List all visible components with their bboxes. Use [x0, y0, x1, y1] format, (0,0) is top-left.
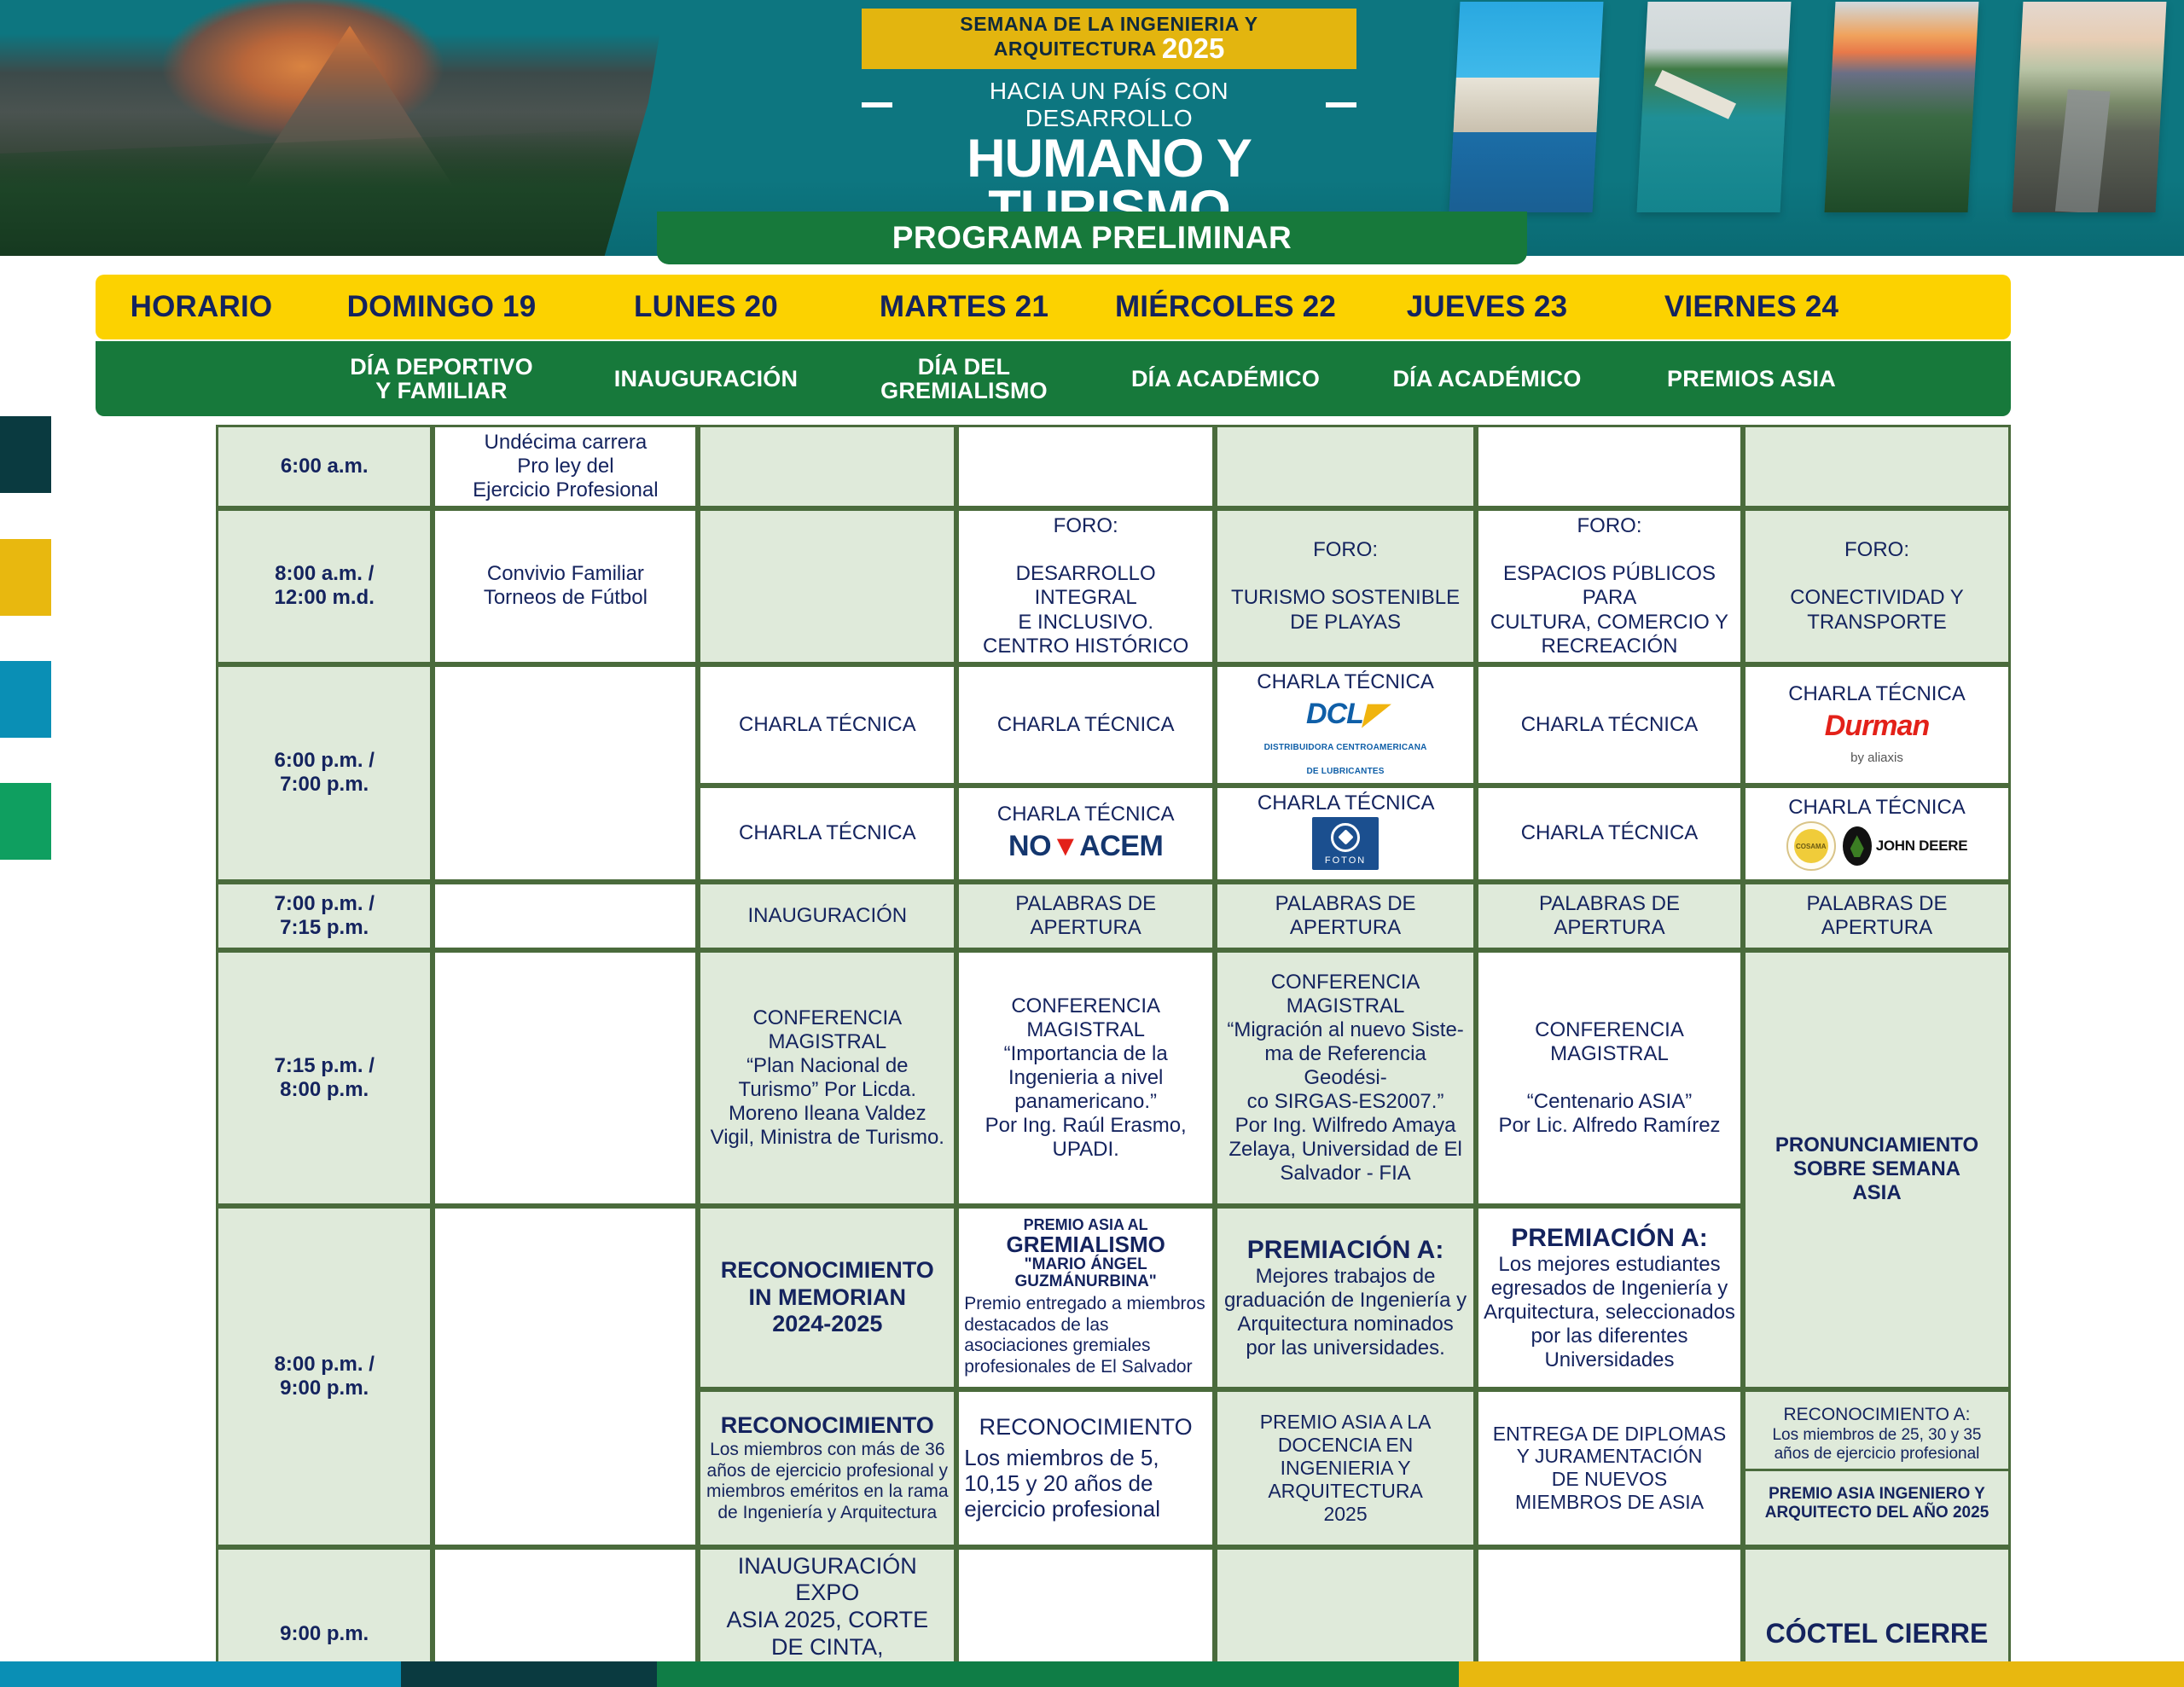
charla-label: CHARLA TÉCNICA	[739, 713, 916, 736]
cell-line: INGENIERIA Y	[1281, 1457, 1411, 1479]
cell-line: IN MEMORIAN	[749, 1284, 907, 1310]
durman-logo-subtitle: by aliaxis	[1850, 751, 1903, 765]
reconocimiento-title: RECONOCIMIENTO	[964, 1414, 1207, 1441]
cell-jue-600	[1476, 425, 1743, 508]
header-domingo: DOMINGO 19	[307, 292, 576, 323]
cell-line: Ingenieria a nivel	[1008, 1066, 1163, 1089]
conferencia-title: CONFERENCIA	[1535, 1018, 1684, 1041]
cell-line: Pro ley del	[517, 455, 613, 478]
day-header-row: HORARIO DOMINGO 19 LUNES 20 MARTES 21 MI…	[96, 275, 2011, 339]
bottom-segment-gold	[1459, 1661, 2184, 1687]
charla-label: CHARLA TÉCNICA	[1788, 682, 1966, 705]
time-line: 6:00 p.m. /	[275, 749, 375, 772]
premiacion-body: Los mejores estudiantes egresados de Ing…	[1484, 1253, 1735, 1372]
cell-lun-reconocimiento: RECONOCIMIENTO IN MEMORIAN 2024-2025	[698, 1206, 956, 1389]
foro-label: FORO:	[1844, 538, 1909, 561]
cell-line: ma de Referencia Geodési-	[1264, 1042, 1426, 1089]
cell-lun-conferencia: CONFERENCIA MAGISTRAL “Plan Nacional de …	[698, 950, 956, 1206]
cell-lun-800	[698, 508, 956, 664]
time-600pm: 6:00 p.m. / 7:00 p.m.	[216, 664, 433, 882]
cell-line: Torneos de Fútbol	[484, 586, 648, 609]
premiacion-label: PREMIACIÓN A:	[1484, 1223, 1735, 1253]
cell-lun-reconocimiento-2: RECONOCIMIENTO Los miembros con más de 3…	[698, 1389, 956, 1547]
foro-label: FORO:	[1313, 538, 1378, 561]
conferencia-title: CONFERENCIA MAGISTRAL	[706, 1006, 949, 1054]
theme-domingo: DÍA DEPORTIVOY FAMILIAR	[307, 355, 576, 403]
cell-mar-premio-gremialismo: PREMIO ASIA AL GREMIALISMO "MARIO ÁNGEL …	[956, 1206, 1215, 1389]
cell-lun-charla-2: CHARLA TÉCNICA	[698, 786, 956, 882]
bottom-segment-green	[657, 1661, 1459, 1687]
cell-line: APERTURA	[1290, 916, 1401, 939]
theme-lunes: INAUGURACIÓN	[576, 367, 836, 391]
cell-line: “Importancia de la	[1004, 1042, 1168, 1065]
cell-mie-premio-docencia: PREMIO ASIA A LA DOCENCIA EN INGENIERIA …	[1215, 1389, 1476, 1547]
cell-line: DOCENCIA EN	[1278, 1434, 1413, 1456]
time-line: 8:00 p.m. /	[275, 1353, 375, 1376]
cell-dom-715pm	[433, 950, 698, 1206]
cell-line: SOBRE SEMANA	[1793, 1157, 1960, 1180]
event-kicker-bar: SEMANA DE LA INGENIERIA Y ARQUITECTURA20…	[862, 9, 1356, 69]
photo-pier	[1637, 2, 1792, 212]
cell-line: E INCLUSIVO.	[1018, 611, 1153, 634]
conferencia-title: MAGISTRAL	[1550, 1042, 1669, 1065]
dcl-logo-subtitle: DISTRIBUIDORA CENTROAMERICANA DE LUBRICA…	[1264, 743, 1427, 776]
cell-mar-charla-1: CHARLA TÉCNICA	[956, 664, 1215, 786]
time-700pm: 7:00 p.m. / 7:15 p.m.	[216, 882, 433, 950]
time-line: 7:00 p.m. /	[275, 892, 375, 915]
foton-emblem-icon	[1331, 823, 1360, 852]
charla-label: CHARLA TÉCNICA	[1258, 791, 1433, 815]
premiacion-label: PREMIACIÓN A:	[1223, 1235, 1468, 1265]
cell-line: Por Ing. Raúl Erasmo,	[985, 1114, 1187, 1137]
cell-line: PALABRAS DE	[1539, 892, 1680, 915]
cell-line: ARQUITECTURA	[1268, 1480, 1422, 1502]
cell-line: INAUGURACIÓN EXPO	[738, 1553, 917, 1606]
reconocimiento-title: RECONOCIMIENTO A:	[1749, 1405, 2005, 1426]
cell-line: panamericano.”	[1014, 1090, 1157, 1113]
cell-line: Zelaya, Universidad de El	[1228, 1138, 1461, 1161]
color-chip-dark-teal	[0, 416, 51, 493]
bottom-segment-cyan	[0, 1661, 401, 1687]
vie-premio-block: PREMIO ASIA INGENIERO Y ARQUITECTO DEL A…	[1745, 1471, 2008, 1536]
cell-line: Convivio Familiar	[487, 562, 644, 585]
cell-lun-charla-1: CHARLA TÉCNICA	[698, 664, 956, 786]
theme-viernes: PREMIOS ASIA	[1615, 367, 1888, 391]
cell-jue-entrega-diplomas: ENTREGA DE DIPLOMAS Y JURAMENTACIÓN DE N…	[1476, 1389, 1743, 1547]
event-year: 2025	[1162, 32, 1224, 64]
table-row: 8:00 a.m. / 12:00 m.d. Convivio Familiar…	[216, 508, 2011, 664]
cell-line: RECONOCIMIENTO	[721, 1257, 934, 1283]
cell-line: TRANSPORTE	[1807, 611, 1947, 634]
cell-dom-600: Undécima carrera Pro ley del Ejercicio P…	[433, 425, 698, 508]
cell-mie-800: FORO: TURISMO SOSTENIBLE DE PLAYAS	[1215, 508, 1476, 664]
theme-miercoles: DÍA ACADÉMICO	[1092, 367, 1359, 391]
cell-jue-charla-1: CHARLA TÉCNICA	[1476, 664, 1743, 786]
cell-jue-apertura: PALABRAS DE APERTURA	[1476, 882, 1743, 950]
conferencia-title: MAGISTRAL	[1026, 1018, 1145, 1041]
cell-mie-conferencia: CONFERENCIA MAGISTRAL “Migración al nuev…	[1215, 950, 1476, 1206]
table-row: 8:00 p.m. / 9:00 p.m. RECONOCIMIENTO IN …	[216, 1206, 2011, 1389]
bottom-segment-dark-teal	[401, 1661, 657, 1687]
rule-left-icon	[862, 102, 892, 107]
vie-reconocimiento-block: RECONOCIMIENTO A: Los miembros de 25, 30…	[1745, 1400, 2008, 1471]
cell-lun-inauguracion: INAUGURACIÓN	[698, 882, 956, 950]
cell-mie-premiacion: PREMIACIÓN A: Mejores trabajos de gradua…	[1215, 1206, 1476, 1389]
time-600am: 6:00 a.m.	[216, 425, 433, 508]
time-800am: 8:00 a.m. / 12:00 m.d.	[216, 508, 433, 664]
theme-jueves: DÍA ACADÉMICO	[1359, 367, 1615, 391]
cell-vie-charla-1: CHARLA TÉCNICA Durman by aliaxis	[1743, 664, 2011, 786]
theme-martes: DÍA DELGREMIALISMO	[836, 355, 1092, 403]
cell-line: CENTRO HISTÓRICO	[983, 635, 1188, 658]
color-chip-cyan	[0, 661, 51, 738]
charla-label: CHARLA TÉCNICA	[1521, 713, 1699, 736]
conferencia-body: “Plan Nacional de Turismo” Por Licda. Mo…	[706, 1054, 949, 1150]
durman-logo-icon: Durman	[1751, 710, 2003, 744]
header-horario: HORARIO	[96, 292, 307, 323]
header-martes: MARTES 21	[836, 292, 1092, 323]
conferencia-title: MAGISTRAL	[1287, 994, 1405, 1017]
cell-line: PALABRAS DE	[1807, 892, 1948, 915]
cell-vie-pronunciamiento: PRONUNCIAMIENTO SOBRE SEMANA ASIA	[1743, 950, 2011, 1389]
cell-mar-conferencia: CONFERENCIA MAGISTRAL “Importancia de la…	[956, 950, 1215, 1206]
foro-label: FORO:	[1054, 514, 1118, 537]
cell-mar-charla-2: CHARLA TÉCNICA NO▼ACEM	[956, 786, 1215, 882]
cell-dom-800pm	[433, 1206, 698, 1547]
premio-body: Premio entregado a miembros destacados d…	[964, 1294, 1207, 1377]
color-chip-green	[0, 783, 51, 860]
header-miercoles: MIÉRCOLES 22	[1092, 292, 1359, 323]
bottom-color-bar	[0, 1661, 2184, 1687]
cell-line: APERTURA	[1031, 916, 1141, 939]
cell-line: CULTURA, COMERCIO Y	[1490, 611, 1728, 634]
cell-line: APERTURA	[1821, 916, 1932, 939]
cell-line: Salvador - FIA	[1280, 1162, 1410, 1185]
cell-line: DE NUEVOS	[1552, 1468, 1667, 1490]
photo-strip	[1455, 2, 2163, 215]
cell-dom-800: Convivio Familiar Torneos de Fútbol	[433, 508, 698, 664]
cell-line: RECREACIÓN	[1541, 635, 1677, 658]
time-line: 9:00 p.m.	[280, 1377, 369, 1400]
conferencia-title: CONFERENCIA	[1271, 971, 1420, 994]
cell-line: Ejercicio Profesional	[473, 478, 658, 501]
cell-line: ARQUITECTO DEL AÑO 2025	[1765, 1504, 1989, 1522]
cell-jue-premiacion: PREMIACIÓN A: Los mejores estudiantes eg…	[1476, 1206, 1743, 1389]
cell-mar-apertura: PALABRAS DE APERTURA	[956, 882, 1215, 950]
cell-line: ENTREGA DE DIPLOMAS	[1493, 1423, 1727, 1445]
cell-line: APERTURA	[1554, 916, 1664, 939]
charla-label: CHARLA TÉCNICA	[1788, 796, 1966, 819]
cell-line: UPADI.	[1053, 1138, 1119, 1161]
event-tagline: HACIA UN PAÍS CON DESARROLLO	[903, 78, 1316, 132]
charla-label: CHARLA TÉCNICA	[997, 713, 1175, 736]
header-viernes: VIERNES 24	[1615, 292, 1888, 323]
premio-title: GREMIALISMO	[964, 1233, 1207, 1256]
foton-logo-icon: FOTON	[1312, 817, 1379, 870]
cell-mie-charla-2: CHARLA TÉCNICA FOTON	[1215, 786, 1476, 882]
cell-line: PALABRAS DE	[1275, 892, 1416, 915]
premiacion-body: Mejores trabajos de graduación de Ingeni…	[1223, 1265, 1468, 1360]
cell-line: DE PLAYAS	[1290, 611, 1401, 634]
header-jueves: JUEVES 23	[1359, 292, 1615, 323]
theme-header-row: DÍA DEPORTIVOY FAMILIAR INAUGURACIÓN DÍA…	[96, 341, 2011, 416]
cell-dom-700pm	[433, 882, 698, 950]
cell-mar-reconocimiento: RECONOCIMIENTO Los miembros de 5, 10,15 …	[956, 1389, 1215, 1547]
table-row: 6:00 p.m. / 7:00 p.m. CHARLA TÉCNICA CHA…	[216, 664, 2011, 786]
reconocimiento-body: Los miembros con más de 36 años de ejerc…	[706, 1440, 949, 1523]
cell-lun-600	[698, 425, 956, 508]
dcl-logo-icon: DCL◤	[1223, 698, 1468, 732]
cell-line: DESARROLLO INTEGRAL	[1016, 562, 1156, 609]
time-line: 12:00 m.d.	[275, 586, 375, 609]
cell-line: co SIRGAS-ES2007.”	[1247, 1090, 1444, 1113]
color-chip-gold	[0, 539, 51, 616]
cell-line: Undécima carrera	[485, 431, 648, 454]
john-deere-logo-icon: JOHN DEERE	[1843, 826, 1968, 866]
deer-icon	[1843, 826, 1872, 866]
cell-jue-conferencia: CONFERENCIA MAGISTRAL “Centenario ASIA” …	[1476, 950, 1743, 1206]
cell-line: ASIA	[1852, 1181, 1901, 1204]
charla-label: CHARLA TÉCNICA	[1521, 821, 1699, 844]
photo-highway	[2013, 2, 2167, 212]
cell-line: PREMIO ASIA INGENIERO Y	[1769, 1485, 1985, 1503]
cell-line: ASIA 2025, CORTE	[726, 1607, 928, 1632]
cell-line: Y JURAMENTACIÓN	[1517, 1445, 1703, 1467]
sponsor-logos: COSAMA JOHN DEERE	[1751, 821, 2003, 871]
table-row: 7:00 p.m. / 7:15 p.m. INAUGURACIÓN PALAB…	[216, 882, 2011, 950]
cell-vie-800: FORO: CONECTIVIDAD Y TRANSPORTE	[1743, 508, 2011, 664]
cosama-logo-icon: COSAMA	[1786, 821, 1836, 871]
rule-right-icon	[1326, 102, 1356, 107]
reconocimiento-body: Los miembros de 25, 30 y 35 años de ejer…	[1749, 1426, 2005, 1464]
cell-mar-600	[956, 425, 1215, 508]
charla-label: CHARLA TÉCNICA	[739, 821, 916, 844]
cell-jue-charla-2: CHARLA TÉCNICA	[1476, 786, 1743, 882]
premio-quote: "MARIO ÁNGEL GUZMÁNURBINA"	[964, 1256, 1207, 1290]
cell-line: MIEMBROS DE ASIA	[1515, 1491, 1704, 1513]
cell-line: 2024-2025	[772, 1311, 882, 1336]
time-715pm: 7:15 p.m. / 8:00 p.m.	[216, 950, 433, 1206]
conferencia-title: CONFERENCIA	[1011, 994, 1160, 1017]
time-line: 7:00 p.m.	[280, 773, 369, 796]
cell-mie-600	[1215, 425, 1476, 508]
volcano-foliage	[0, 128, 665, 256]
photo-mountains	[1825, 2, 1979, 212]
novacem-logo-icon: NO▼ACEM	[964, 830, 1207, 864]
cell-line: TURISMO SOSTENIBLE	[1231, 586, 1460, 609]
charla-label: CHARLA TÉCNICA	[997, 803, 1175, 826]
cell-mie-apertura: PALABRAS DE APERTURA	[1215, 882, 1476, 950]
time-line: 8:00 a.m. /	[275, 562, 374, 585]
time-line: 7:15 p.m.	[280, 916, 369, 939]
header-lunes: LUNES 20	[576, 292, 836, 323]
foro-label: FORO:	[1577, 514, 1642, 537]
cell-mie-charla-1: CHARLA TÉCNICA DCL◤ DISTRIBUIDORA CENTRO…	[1215, 664, 1476, 786]
cell-line: PALABRAS DE	[1015, 892, 1156, 915]
table-row: 7:15 p.m. / 8:00 p.m. CONFERENCIA MAGIST…	[216, 950, 2011, 1206]
cell-line: PREMIO ASIA A LA	[1260, 1411, 1432, 1433]
charla-label: CHARLA TÉCNICA	[1257, 670, 1434, 693]
volcano-photo	[0, 0, 665, 256]
cell-vie-charla-2: CHARLA TÉCNICA COSAMA JOHN DEERE	[1743, 786, 2011, 882]
table-row: 6:00 a.m. Undécima carrera Pro ley del E…	[216, 425, 2011, 508]
cell-line: CONECTIVIDAD Y	[1790, 586, 1964, 609]
program-poster: SEMANA DE LA INGENIERIA Y ARQUITECTURA20…	[0, 0, 2184, 1687]
reconocimiento-title: RECONOCIMIENTO	[706, 1412, 949, 1440]
cell-line: Por Lic. Alfredo Ramírez	[1498, 1114, 1720, 1137]
reconocimiento-body: Los miembros de 5, 10,15 y 20 años de ej…	[964, 1445, 1207, 1522]
time-800pm: 8:00 p.m. / 9:00 p.m.	[216, 1206, 433, 1547]
cell-dom-600pm	[433, 664, 698, 882]
event-tagline-row: HACIA UN PAÍS CON DESARROLLO	[862, 78, 1356, 132]
cell-line: PRONUNCIAMIENTO	[1775, 1133, 1978, 1157]
program-banner: PROGRAMA PRELIMINAR	[657, 212, 1527, 264]
cell-vie-premios: RECONOCIMIENTO A: Los miembros de 25, 30…	[1743, 1389, 2011, 1547]
cell-line: “Migración al nuevo Siste-	[1227, 1018, 1463, 1041]
cell-mar-800: FORO: DESARROLLO INTEGRAL E INCLUSIVO. C…	[956, 508, 1215, 664]
cell-line: ESPACIOS PÚBLICOS PARA	[1503, 562, 1716, 609]
cell-jue-800: FORO: ESPACIOS PÚBLICOS PARA CULTURA, CO…	[1476, 508, 1743, 664]
cell-vie-600	[1743, 425, 2011, 508]
cell-line: “Centenario ASIA”	[1527, 1090, 1692, 1113]
time-line: 7:15 p.m. /	[275, 1054, 375, 1077]
cell-line: 2025	[1323, 1503, 1367, 1525]
cell-line: Por Ing. Wilfredo Amaya	[1235, 1114, 1456, 1137]
program-table: 6:00 a.m. Undécima carrera Pro ley del E…	[216, 425, 2011, 1687]
photo-national-palace	[1449, 2, 1604, 212]
time-line: 8:00 p.m.	[280, 1078, 369, 1101]
cell-vie-apertura: PALABRAS DE APERTURA	[1743, 882, 2011, 950]
